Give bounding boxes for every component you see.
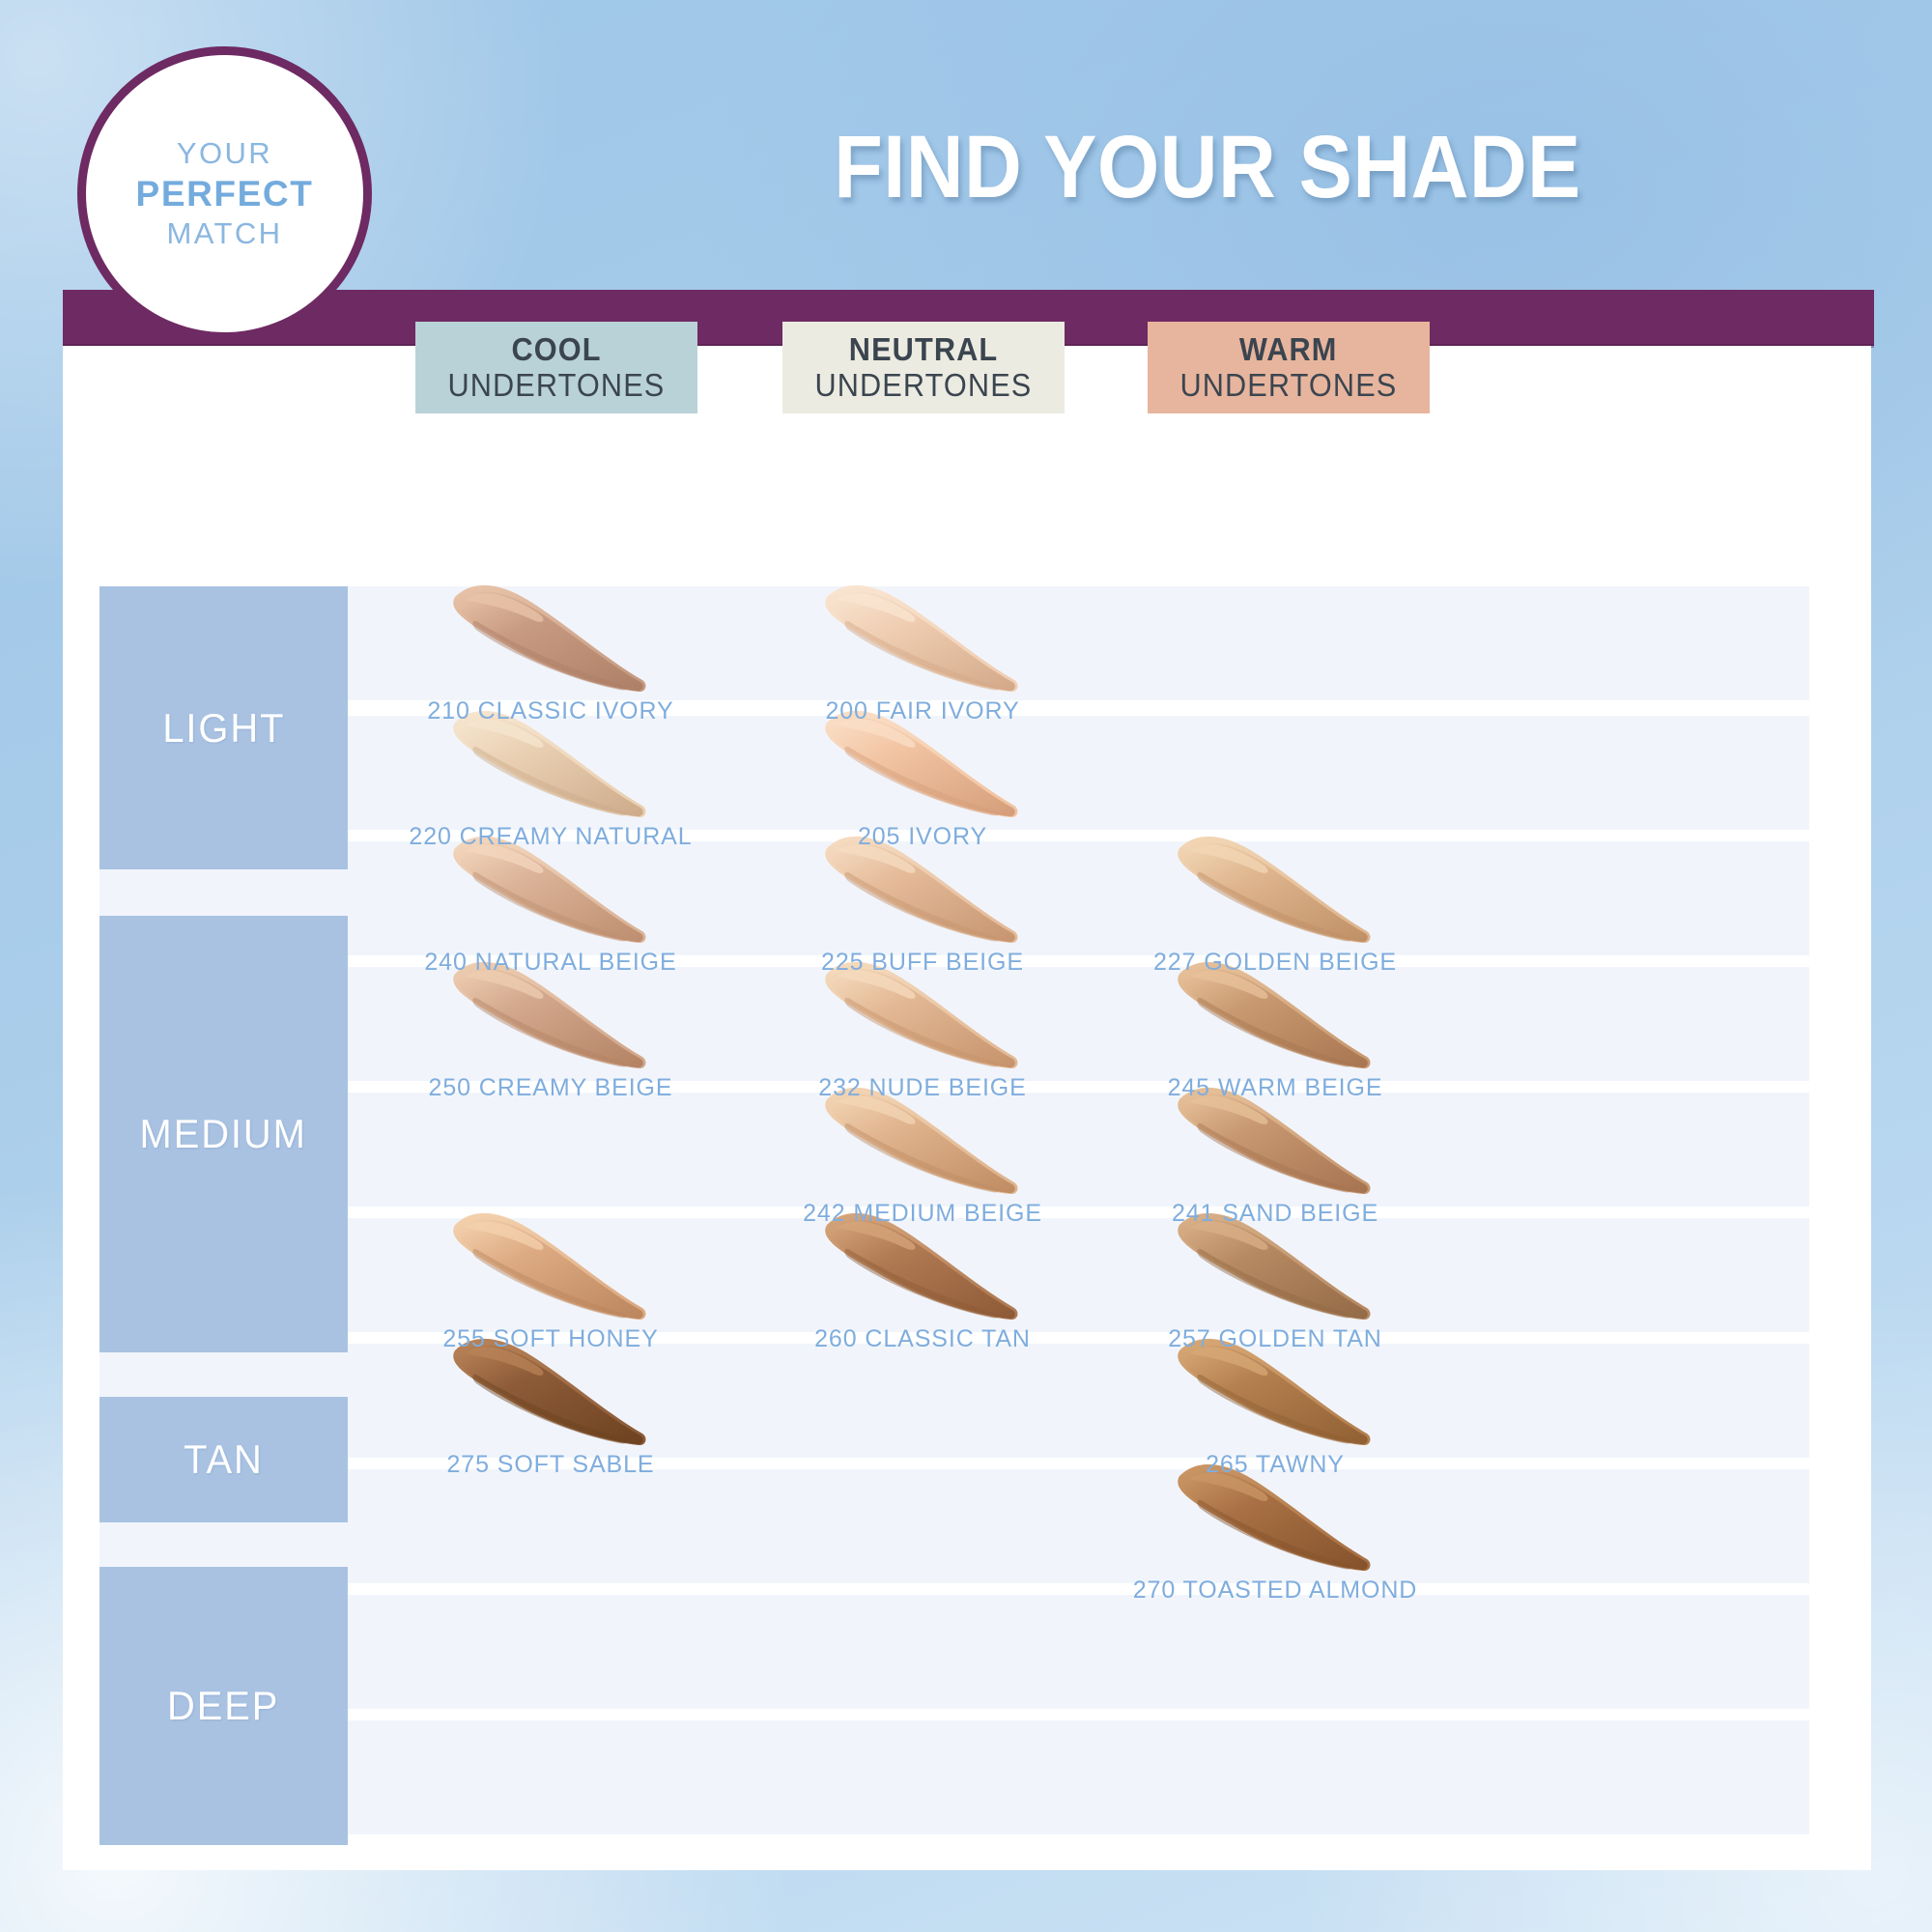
shade-label-200: 200 FAIR IVORY [825,697,1019,724]
shade-label-232: 232 NUDE BEIGE [818,1074,1026,1101]
shade-cell[interactable] [811,580,1034,703]
shade-swatch-227[interactable] [1164,831,1386,954]
shade-label-265: 265 TAWNY [1206,1451,1345,1478]
column-header-neutral-subtitle: UNDERTONES [815,368,1033,404]
column-header-neutral: NEUTRAL UNDERTONES [782,322,1065,413]
swatch-art [440,1207,662,1331]
column-header-warm-title: WARM [1239,332,1338,368]
infographic-canvas: YOUR PERFECT MATCH FIND YOUR SHADE COOL … [0,0,1932,1932]
badge-line-your: YOUR [177,135,272,172]
shade-swatch-255[interactable] [440,1207,662,1331]
swatch-art [1164,831,1386,954]
badge-line-match: MATCH [167,215,283,252]
column-header-neutral-title: NEUTRAL [849,332,998,368]
category-label-light: LIGHT [162,705,285,752]
shade-label-250: 250 CREAMY BEIGE [429,1074,673,1101]
shade-label-225: 225 BUFF BEIGE [821,949,1024,976]
column-header-warm: WARM UNDERTONES [1148,322,1430,413]
shade-label-255: 255 SOFT HONEY [442,1325,658,1352]
swatch-art [440,580,662,703]
shade-label-205: 205 IVORY [858,823,987,850]
shade-label-240: 240 NATURAL BEIGE [424,949,676,976]
shade-cell[interactable] [1164,831,1386,954]
shade-label-275: 275 SOFT SABLE [446,1451,654,1478]
row-stripe [99,1595,1809,1709]
column-header-warm-subtitle: UNDERTONES [1180,368,1398,404]
shade-label-245: 245 WARM BEIGE [1168,1074,1383,1101]
shade-swatch-200[interactable] [811,580,1034,703]
shade-label-260: 260 CLASSIC TAN [814,1325,1031,1352]
shade-label-wrap: 241 SAND BEIGE [1048,1200,1502,1228]
shade-label-wrap: 205 IVORY [696,823,1150,851]
badge-line-perfect: PERFECT [136,172,314,215]
shade-label-227: 227 GOLDEN BEIGE [1153,949,1397,976]
shade-cell[interactable] [440,1207,662,1331]
shade-label-257: 257 GOLDEN TAN [1168,1325,1381,1352]
page-title: FIND YOUR SHADE [608,114,1807,220]
shade-label-wrap: 265 TAWNY [1048,1451,1502,1479]
category-block-tan: TAN [99,1397,348,1522]
row-stripe [99,1344,1809,1458]
category-block-medium: MEDIUM [99,916,348,1352]
column-header-cool-subtitle: UNDERTONES [448,368,666,404]
column-header-cool-title: COOL [511,332,601,368]
shade-label-wrap: 200 FAIR IVORY [696,697,1150,725]
shade-label-wrap: 275 SOFT SABLE [324,1451,778,1479]
row-stripe [99,1720,1809,1834]
row-stripe [99,1469,1809,1583]
shade-cell[interactable] [440,580,662,703]
shade-swatch-210[interactable] [440,580,662,703]
category-block-light: LIGHT [99,586,348,869]
shade-label-wrap: 257 GOLDEN TAN [1048,1325,1502,1353]
category-block-deep: DEEP [99,1567,348,1845]
category-label-tan: TAN [184,1436,264,1483]
shade-label-210: 210 CLASSIC IVORY [427,697,673,724]
swatch-art [811,580,1034,703]
category-label-deep: DEEP [167,1683,279,1729]
column-header-cool: COOL UNDERTONES [415,322,697,413]
shade-label-242: 242 MEDIUM BEIGE [803,1200,1042,1227]
shade-label-wrap: 227 GOLDEN BEIGE [1048,949,1502,977]
shade-label-270: 270 TOASTED ALMOND [1133,1577,1418,1604]
category-label-medium: MEDIUM [140,1111,307,1157]
shade-label-220: 220 CREAMY NATURAL [409,823,692,850]
shade-label-wrap: 245 WARM BEIGE [1048,1074,1502,1102]
shade-label-241: 241 SAND BEIGE [1172,1200,1378,1227]
shade-label-wrap: 270 TOASTED ALMOND [1048,1577,1502,1605]
perfect-match-badge: YOUR PERFECT MATCH [77,46,372,341]
